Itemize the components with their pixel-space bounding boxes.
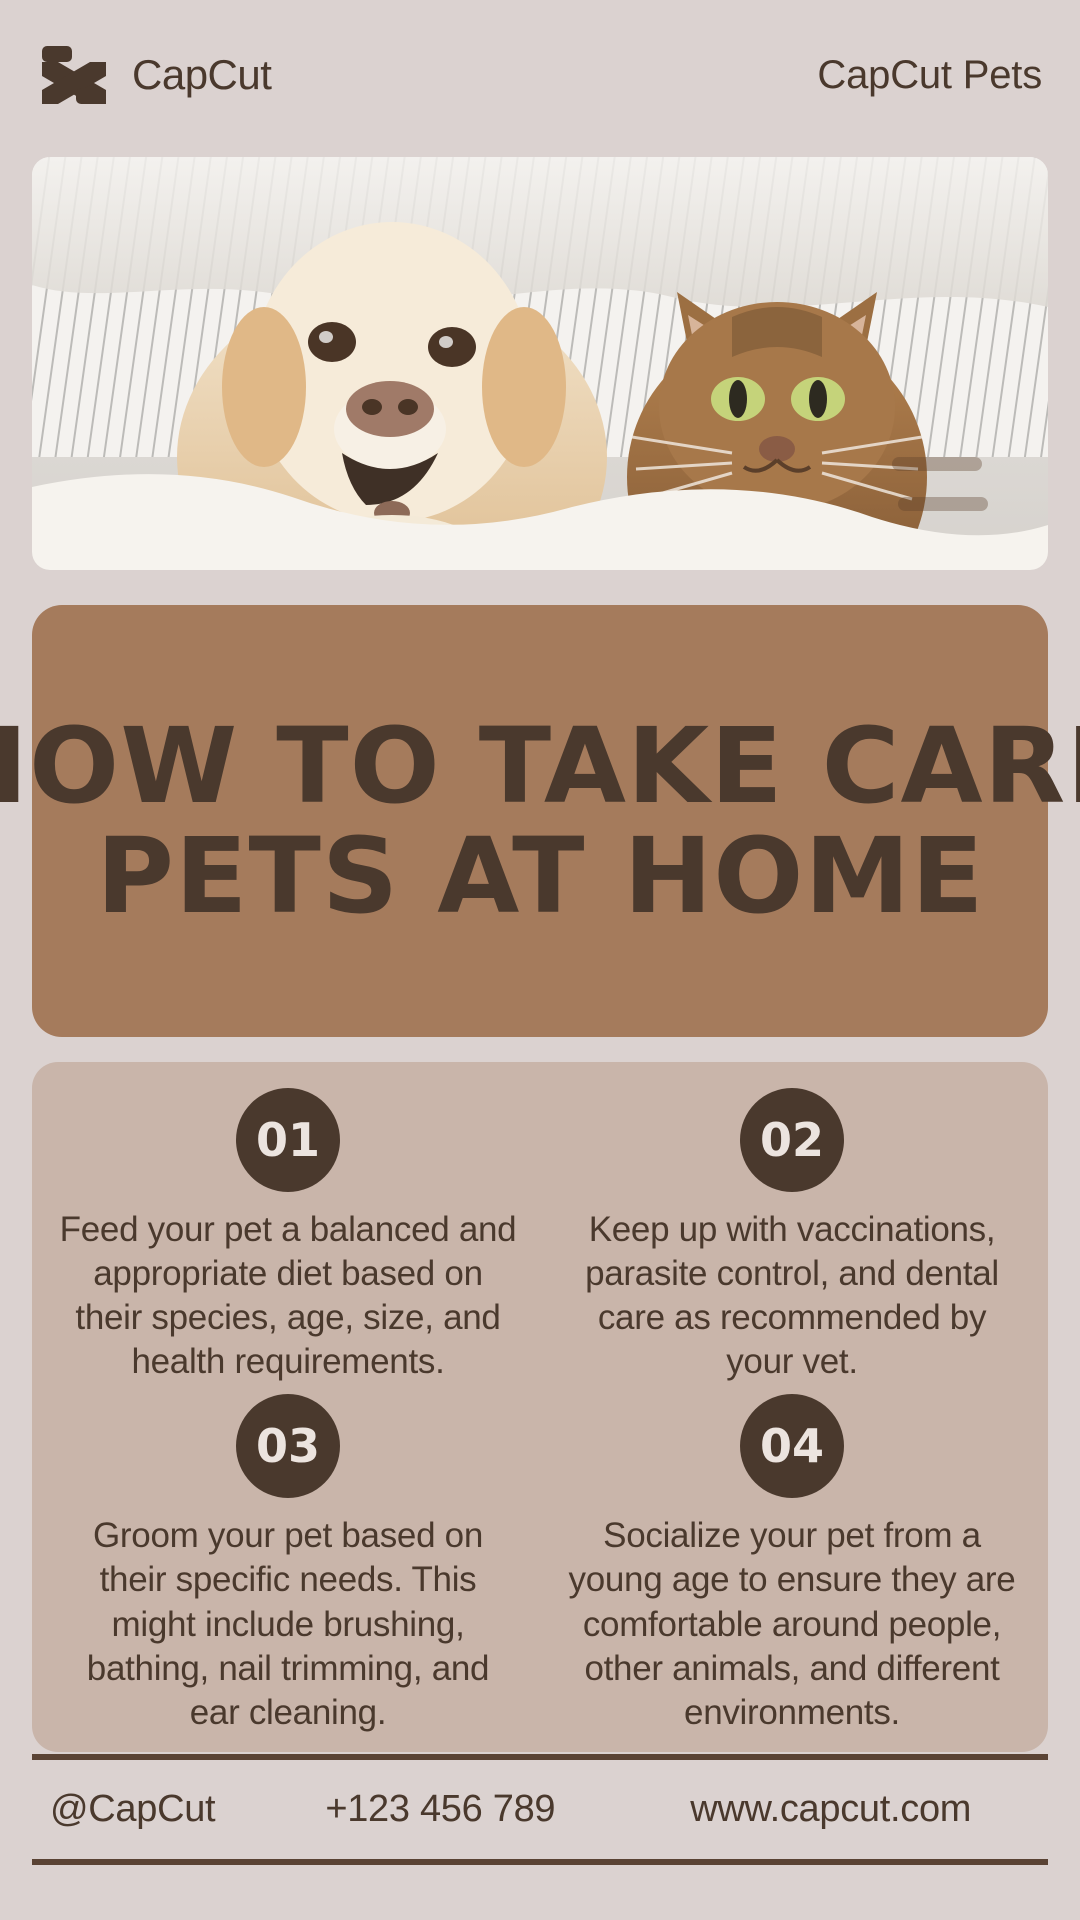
header-right-label: CapCut Pets <box>817 53 1042 98</box>
footer-divider-bottom <box>32 1859 1048 1865</box>
page-header: CapCut CapCut Pets <box>0 0 1080 150</box>
brand-lockup[interactable]: CapCut <box>38 42 271 108</box>
step-number: 04 <box>760 1423 824 1469</box>
title-banner: HOW TO TAKE CARE PETS AT HOME <box>32 605 1048 1037</box>
capcut-logo-icon <box>38 42 110 108</box>
step-number: 01 <box>256 1117 320 1163</box>
footer-website[interactable]: www.capcut.com <box>690 1788 971 1831</box>
step-badge: 02 <box>740 1088 844 1192</box>
step-description: Keep up with vaccinations, parasite cont… <box>562 1208 1022 1384</box>
step-badge: 04 <box>740 1394 844 1498</box>
step-badge: 01 <box>236 1088 340 1192</box>
steps-panel: 01 Feed your pet a balanced and appropri… <box>32 1062 1048 1752</box>
step-number: 02 <box>760 1117 824 1163</box>
title-line-2: PETS AT HOME <box>96 821 984 931</box>
step-description: Feed your pet a balanced and appropriate… <box>58 1208 518 1384</box>
step-item: 04 Socialize your pet from a young age t… <box>554 1394 1030 1734</box>
step-description: Groom your pet based on their specific n… <box>58 1514 518 1734</box>
footer-phone[interactable]: +123 456 789 <box>325 1788 555 1831</box>
step-item: 01 Feed your pet a balanced and appropri… <box>50 1088 526 1384</box>
title-line-1: HOW TO TAKE CARE <box>0 711 1080 821</box>
step-item: 03 Groom your pet based on their specifi… <box>50 1394 526 1734</box>
step-badge: 03 <box>236 1394 340 1498</box>
brand-name: CapCut <box>132 54 271 96</box>
step-number: 03 <box>256 1423 320 1469</box>
step-description: Socialize your pet from a young age to e… <box>562 1514 1022 1734</box>
hero-image <box>32 157 1048 570</box>
footer-social-handle[interactable]: @CapCut <box>50 1788 215 1831</box>
page-footer: @CapCut +123 456 789 www.capcut.com <box>32 1760 1048 1859</box>
step-item: 02 Keep up with vaccinations, parasite c… <box>554 1088 1030 1384</box>
